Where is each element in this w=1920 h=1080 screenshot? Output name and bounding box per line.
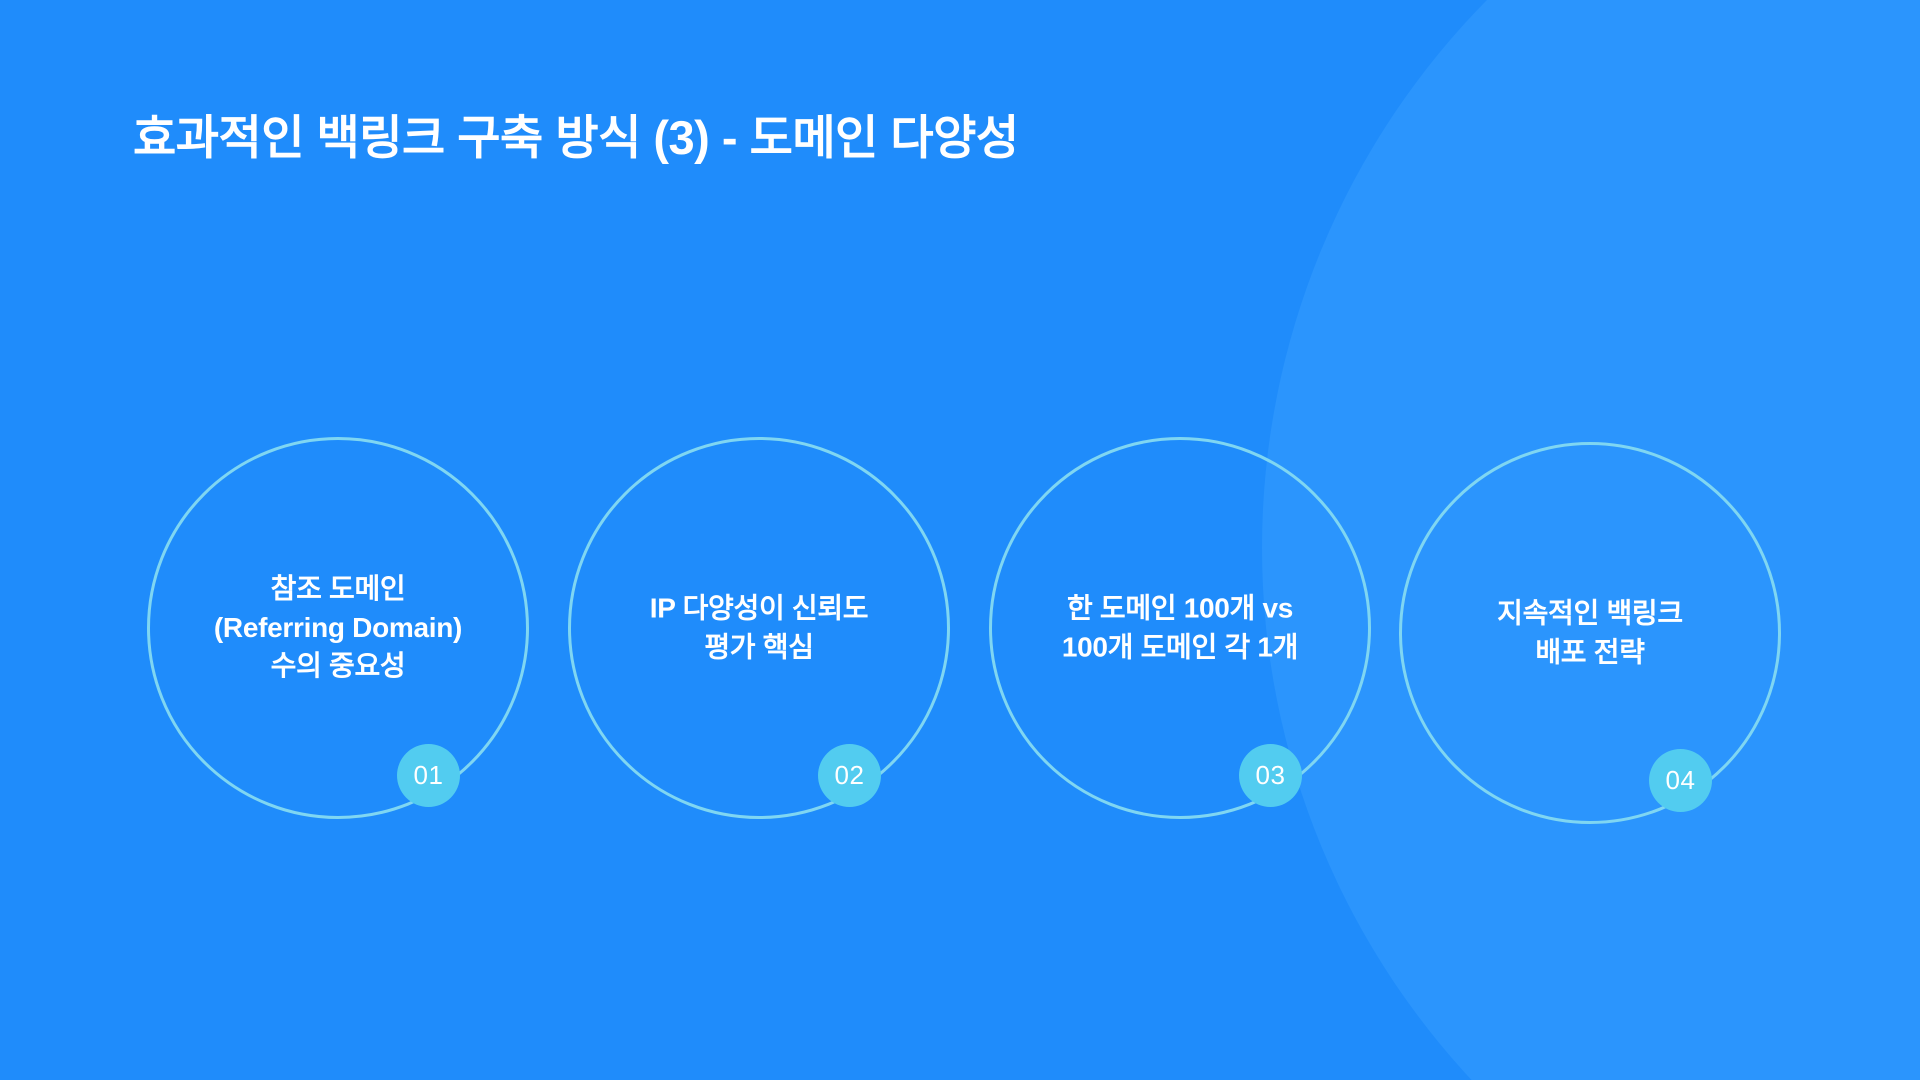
concept-node-01[interactable]: 참조 도메인 (Referring Domain) 수의 중요성 01 <box>147 437 529 819</box>
concept-node-04[interactable]: 지속적인 백링크 배포 전략 04 <box>1399 442 1781 824</box>
step-number-badge[interactable]: 02 <box>818 744 881 807</box>
concept-circle-row: 참조 도메인 (Referring Domain) 수의 중요성 01 IP 다… <box>0 0 1920 1080</box>
concept-node-label: 한 도메인 100개 vs 100개 도메인 각 1개 <box>994 589 1366 666</box>
concept-node-02[interactable]: IP 다양성이 신뢰도 평가 핵심 02 <box>568 437 950 819</box>
concept-node-label: IP 다양성이 신뢰도 평가 핵심 <box>579 589 939 666</box>
concept-node-label: 지속적인 백링크 배포 전략 <box>1410 594 1770 671</box>
slide-canvas: 효과적인 백링크 구축 방식 (3) - 도메인 다양성 참조 도메인 (Ref… <box>0 0 1920 1080</box>
step-number-badge[interactable]: 03 <box>1239 744 1302 807</box>
concept-node-label: 참조 도메인 (Referring Domain) 수의 중요성 <box>158 570 518 686</box>
step-number-badge[interactable]: 04 <box>1649 749 1712 812</box>
step-number-badge[interactable]: 01 <box>397 744 460 807</box>
concept-node-03[interactable]: 한 도메인 100개 vs 100개 도메인 각 1개 03 <box>989 437 1371 819</box>
